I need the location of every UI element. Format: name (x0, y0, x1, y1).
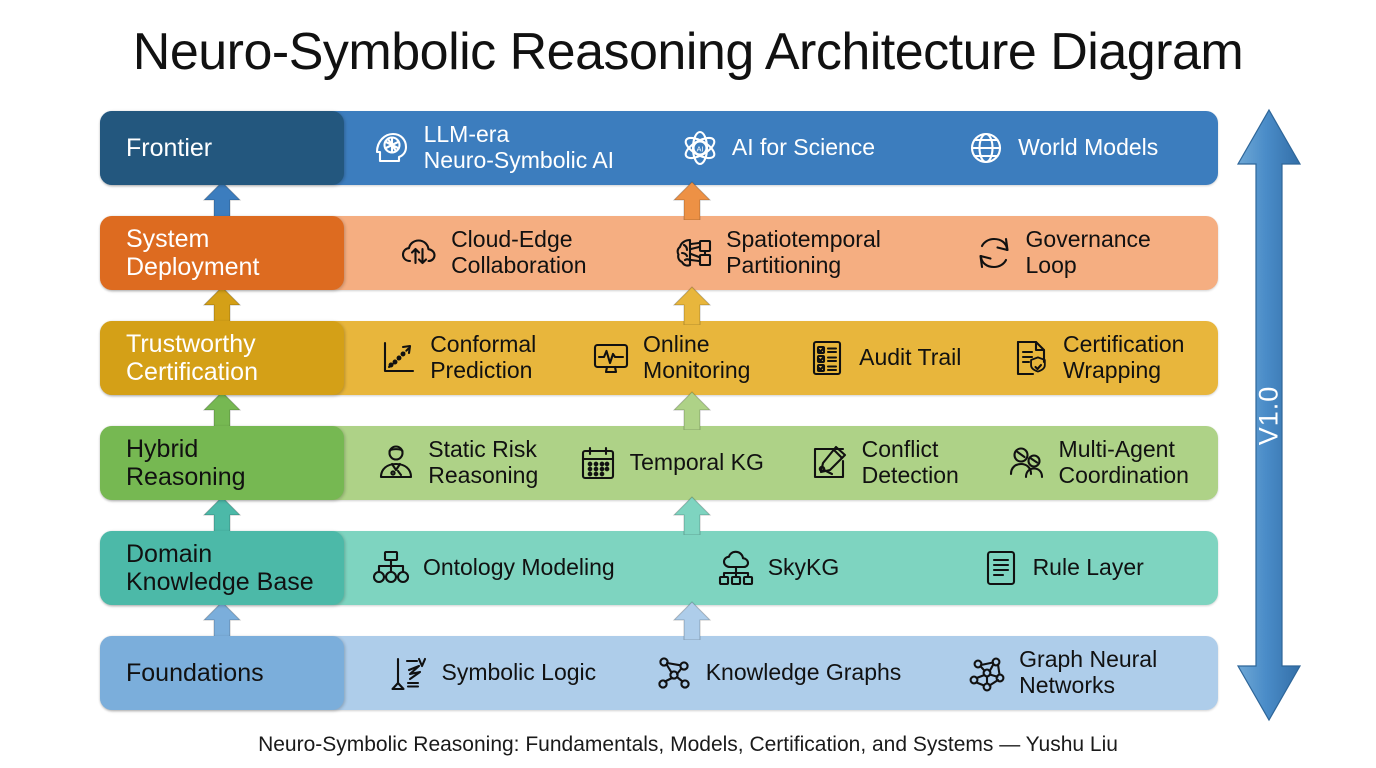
layer-item-label: AI for Science (732, 135, 875, 161)
layer-item[interactable]: World Models (919, 127, 1204, 169)
layer-item[interactable]: Spatiotemporal Partitioning (635, 227, 920, 279)
layer-item-label: Knowledge Graphs (706, 660, 902, 686)
worker-person-icon (375, 442, 417, 484)
layer-label-line: System (126, 225, 259, 253)
layer-items-frontier: LLM-era Neuro-Symbolic AI AI AI for Scie… (344, 111, 1218, 185)
form-pen-icon (809, 442, 851, 484)
layer-label-line: Foundations (126, 659, 264, 687)
connector-arrow-trustworthy-certification-to-system-deployment (670, 286, 714, 325)
layer-item[interactable]: Temporal KG (564, 442, 778, 484)
layer-item[interactable]: Ontology Modeling (350, 547, 635, 589)
layer-label-line: Reasoning (126, 463, 246, 491)
layer-label-frontier[interactable]: Frontier (100, 111, 344, 185)
layer-item[interactable]: Multi-Agent Coordination (991, 437, 1205, 489)
layer-item[interactable]: Symbolic Logic (350, 652, 635, 694)
figure-caption: Neuro-Symbolic Reasoning: Fundamentals, … (0, 733, 1376, 757)
layer-item-label: LLM-era Neuro-Symbolic AI (424, 122, 614, 174)
layer-item[interactable]: SkyKG (635, 547, 920, 589)
connector-arrow-system-deployment-to-frontier (670, 181, 714, 220)
layer-label-line: Knowledge Base (126, 568, 314, 596)
layer-item[interactable]: Audit Trail (777, 337, 991, 379)
connector-arrow-system-deployment-to-frontier (200, 181, 244, 220)
layer-label-system-deployment[interactable]: SystemDeployment (100, 216, 344, 290)
globe-icon (965, 127, 1007, 169)
monitor-pulse-icon (590, 337, 632, 379)
connector-arrow-hybrid-reasoning-to-trustworthy-certification (670, 391, 714, 430)
graph-neural-icon (966, 652, 1008, 694)
layer-item[interactable]: Cloud-Edge Collaboration (350, 227, 635, 279)
layer-label-foundations[interactable]: Foundations (100, 636, 344, 710)
version-double-arrow (1236, 108, 1302, 722)
layer-row-hybrid-reasoning[interactable]: HybridReasoning Static Risk Reasoning (100, 426, 1218, 500)
layer-item-label: Temporal KG (630, 450, 764, 476)
cloud-hierarchy-icon (715, 547, 757, 589)
layer-item-label: Conformal Prediction (430, 332, 536, 384)
layer-item-label: Multi-Agent Coordination (1059, 437, 1189, 489)
cloud-sync-icon (398, 232, 440, 274)
connector-arrow-foundations-to-domain-knowledge-base (200, 601, 244, 640)
layer-label-line: Deployment (126, 253, 259, 281)
layer-item-label: SkyKG (768, 555, 840, 581)
layer-label-line: Trustworthy (126, 330, 258, 358)
svg-text:AI: AI (696, 145, 703, 154)
layer-label-trustworthy-certification[interactable]: TrustworthyCertification (100, 321, 344, 395)
layer-item[interactable]: Conformal Prediction (350, 332, 564, 384)
layer-item-label: Rule Layer (1033, 555, 1144, 581)
two-people-icon (1006, 442, 1048, 484)
diagram-canvas: Neuro-Symbolic Reasoning Architecture Di… (0, 0, 1376, 768)
layer-items-hybrid-reasoning: Static Risk Reasoning Temporal KG (344, 426, 1218, 500)
brain-partition-icon (673, 232, 715, 274)
layer-item[interactable]: Conflict Detection (777, 437, 991, 489)
layer-label-line: Frontier (126, 134, 212, 162)
document-shield-icon (1010, 337, 1052, 379)
layer-item[interactable]: AI AI for Science (635, 127, 920, 169)
layer-label-line: Domain (126, 540, 314, 568)
layer-item-label: Online Monitoring (643, 332, 750, 384)
layer-item-label: Graph Neural Networks (1019, 647, 1157, 699)
calendar-icon (577, 442, 619, 484)
connector-arrow-trustworthy-certification-to-system-deployment (200, 286, 244, 325)
layer-item-label: Audit Trail (859, 345, 961, 371)
checklist-icon (806, 337, 848, 379)
atom-ai-icon: AI (679, 127, 721, 169)
layer-item-label: World Models (1018, 135, 1158, 161)
layer-item[interactable]: Knowledge Graphs (635, 652, 920, 694)
layer-item-label: Governance Loop (1026, 227, 1151, 279)
layer-item[interactable]: Online Monitoring (564, 332, 778, 384)
layer-row-system-deployment[interactable]: SystemDeployment Cloud-Edge Collaboratio… (100, 216, 1218, 290)
layer-items-foundations: Symbolic Logic Knowledge Graphs Graph (344, 636, 1218, 710)
hierarchy-icon (370, 547, 412, 589)
layer-items-system-deployment: Cloud-Edge Collaboration Spatiotemporal … (344, 216, 1218, 290)
layer-item-label: Cloud-Edge Collaboration (451, 227, 587, 279)
layer-item-label: Spatiotemporal Partitioning (726, 227, 881, 279)
layer-row-foundations[interactable]: Foundations Symbolic Logic Knowledge Gra… (100, 636, 1218, 710)
connector-arrow-domain-knowledge-base-to-hybrid-reasoning (670, 496, 714, 535)
layer-items-domain-knowledge-base: Ontology Modeling SkyKG Rule Layer (344, 531, 1218, 605)
layer-row-frontier[interactable]: Frontier LLM-era Neuro-Symbolic AI AI AI… (100, 111, 1218, 185)
layer-item-label: Static Risk Reasoning (428, 437, 538, 489)
layer-row-domain-knowledge-base[interactable]: DomainKnowledge Base Ontology Modeling S… (100, 531, 1218, 605)
logic-symbols-icon (388, 652, 430, 694)
connector-arrow-domain-knowledge-base-to-hybrid-reasoning (200, 496, 244, 535)
connector-arrow-hybrid-reasoning-to-trustworthy-certification (200, 391, 244, 430)
loop-arrows-icon (973, 232, 1015, 274)
layer-item[interactable]: Static Risk Reasoning (350, 437, 564, 489)
page-title: Neuro-Symbolic Reasoning Architecture Di… (0, 22, 1376, 82)
layer-item[interactable]: Rule Layer (919, 547, 1204, 589)
layer-item[interactable]: Governance Loop (919, 227, 1204, 279)
layer-row-trustworthy-certification[interactable]: TrustworthyCertification Conformal Predi… (100, 321, 1218, 395)
layer-items-trustworthy-certification: Conformal Prediction Online Monitoring A… (344, 321, 1218, 395)
connector-arrow-foundations-to-domain-knowledge-base (670, 601, 714, 640)
layer-item-label: Conflict Detection (862, 437, 959, 489)
scatter-chart-icon (377, 337, 419, 379)
layer-label-line: Hybrid (126, 435, 246, 463)
layer-label-line: Certification (126, 358, 258, 386)
layer-item[interactable]: LLM-era Neuro-Symbolic AI (350, 122, 635, 174)
layer-item-label: Certification Wrapping (1063, 332, 1184, 384)
layer-item-label: Symbolic Logic (441, 660, 596, 686)
layer-label-domain-knowledge-base[interactable]: DomainKnowledge Base (100, 531, 344, 605)
document-lines-icon (980, 547, 1022, 589)
layer-item-label: Ontology Modeling (423, 555, 615, 581)
graph-nodes-icon (653, 652, 695, 694)
layer-item[interactable]: Certification Wrapping (991, 332, 1205, 384)
layer-item[interactable]: Graph Neural Networks (919, 647, 1204, 699)
brain-head-icon (371, 127, 413, 169)
layer-label-hybrid-reasoning[interactable]: HybridReasoning (100, 426, 344, 500)
